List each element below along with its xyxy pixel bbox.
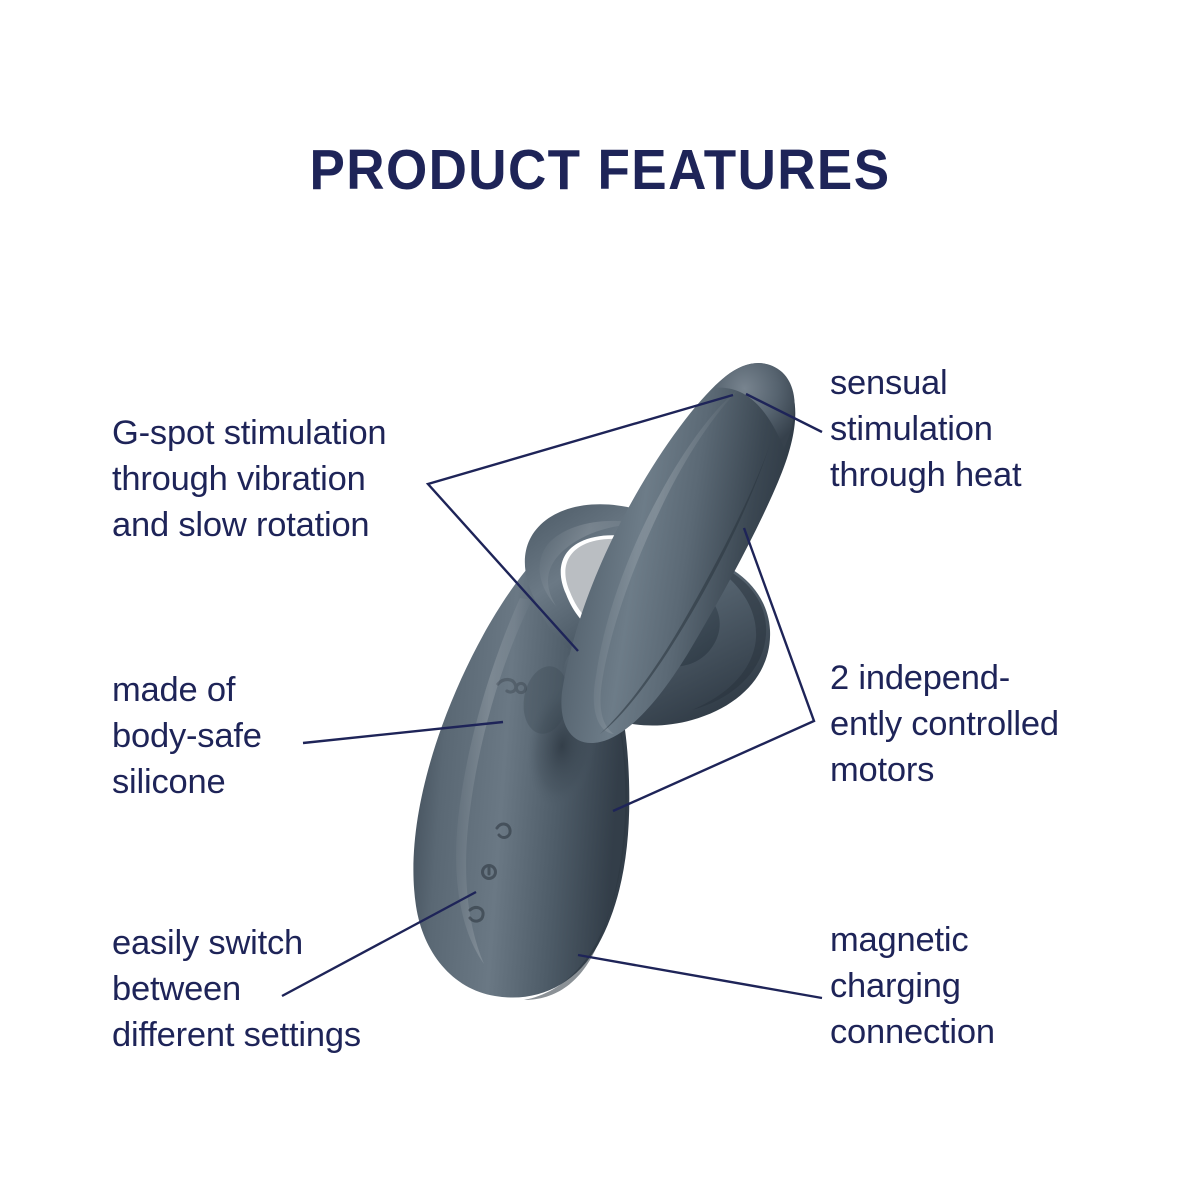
callout-gspot-stimulation: G-spot stimulation through vibration and… (112, 410, 472, 549)
callout-independent-motors: 2 independ- ently controlled motors (830, 655, 1130, 794)
callout-easily-switch-settings: easily switch between different settings (112, 920, 452, 1059)
callout-sensual-stimulation-heat: sensual stimulation through heat (830, 360, 1120, 499)
callout-body-safe-silicone: made of body-safe silicone (112, 667, 412, 806)
callout-magnetic-charging: magnetic charging connection (830, 917, 1110, 1056)
product-features-diagram: PRODUCT FEATURES (0, 0, 1200, 1200)
